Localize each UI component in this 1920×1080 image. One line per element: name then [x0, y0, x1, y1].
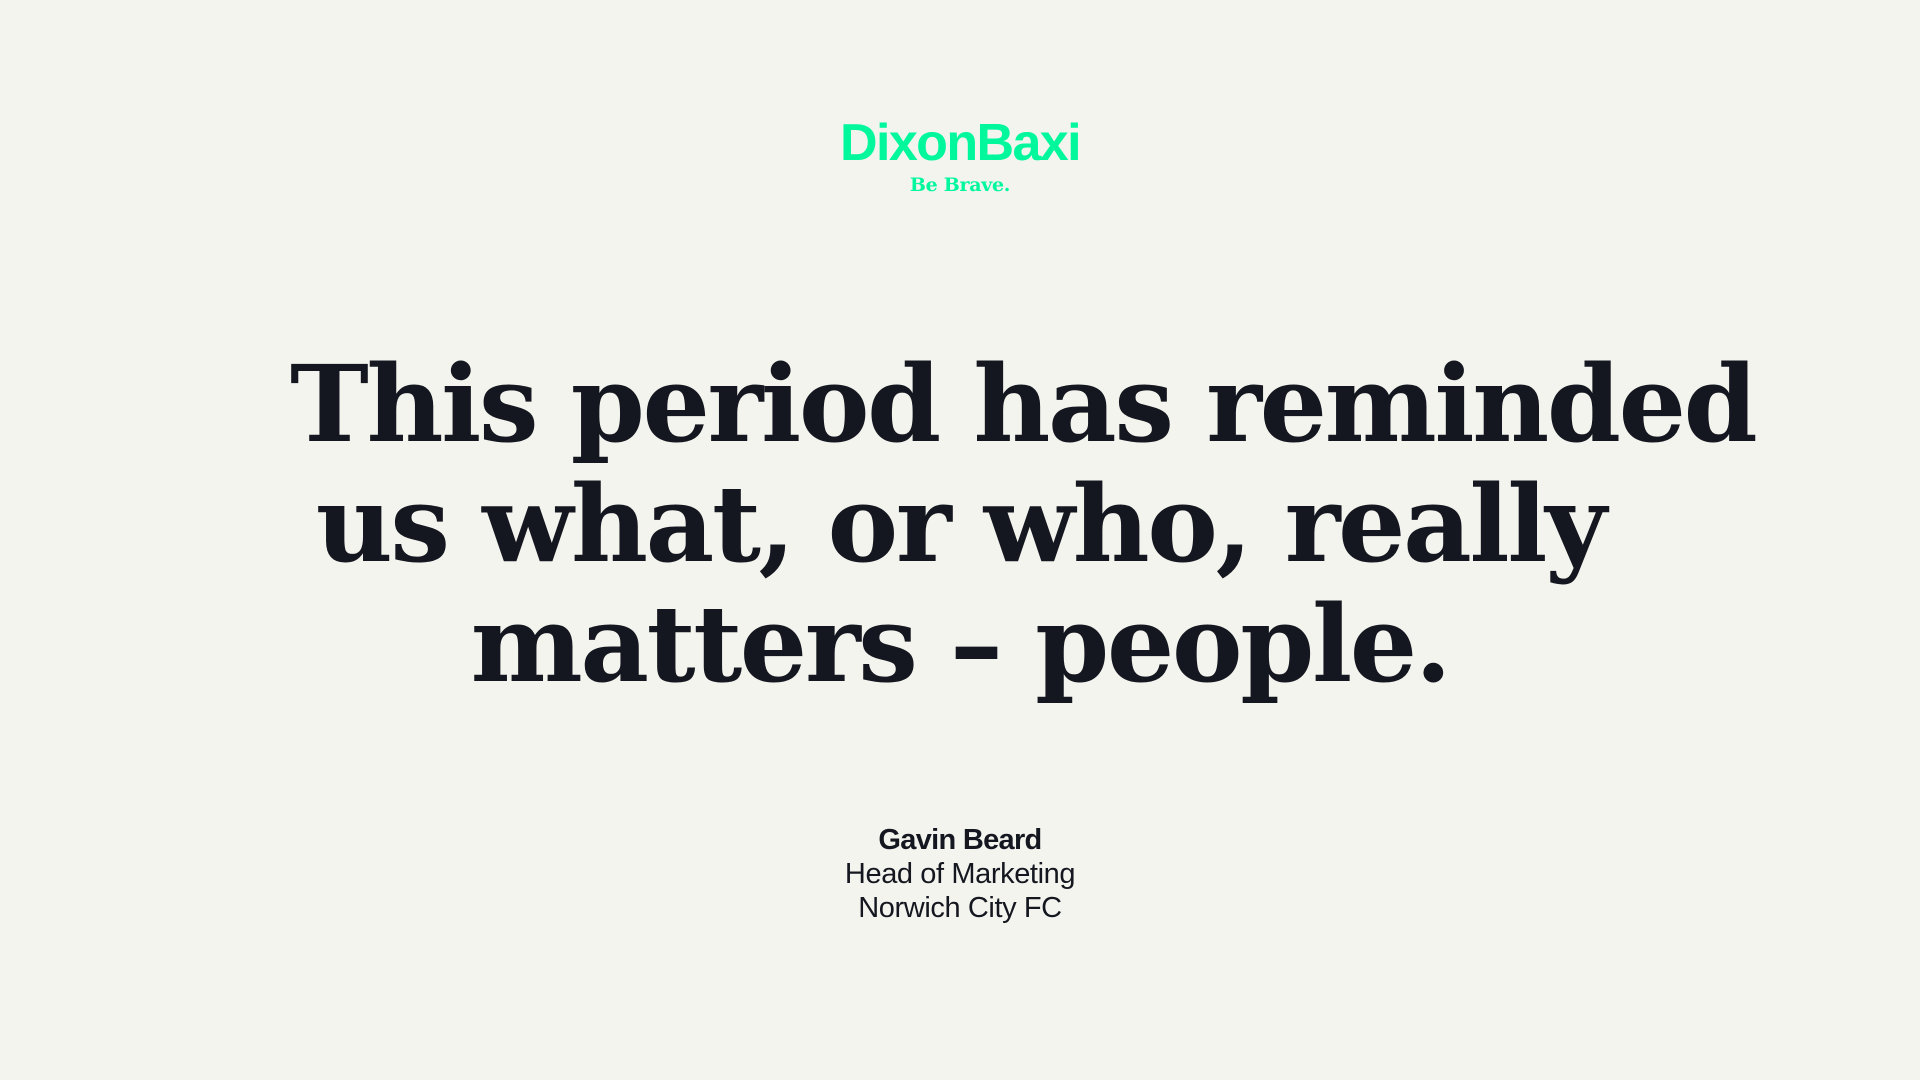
attribution-organisation: Norwich City FC	[0, 892, 1920, 926]
attribution-name: Gavin Beard	[0, 824, 1920, 858]
quote-line-2: us what, or who, really	[290, 464, 1630, 584]
quote-line-1: This period has reminded	[290, 344, 1630, 464]
quote-line-3: matters – people.	[290, 584, 1630, 704]
quote-slide: DixonBaxi Be Brave. This period has remi…	[0, 0, 1920, 1080]
brand-tagline: Be Brave.	[0, 176, 1920, 195]
quote-attribution: Gavin Beard Head of Marketing Norwich Ci…	[0, 824, 1920, 926]
pull-quote: This period has reminded us what, or who…	[290, 344, 1630, 703]
brand-lockup: DixonBaxi Be Brave.	[0, 120, 1920, 195]
attribution-role: Head of Marketing	[0, 858, 1920, 892]
dixonbaxi-logo-wordmark: DixonBaxi	[0, 120, 1920, 168]
